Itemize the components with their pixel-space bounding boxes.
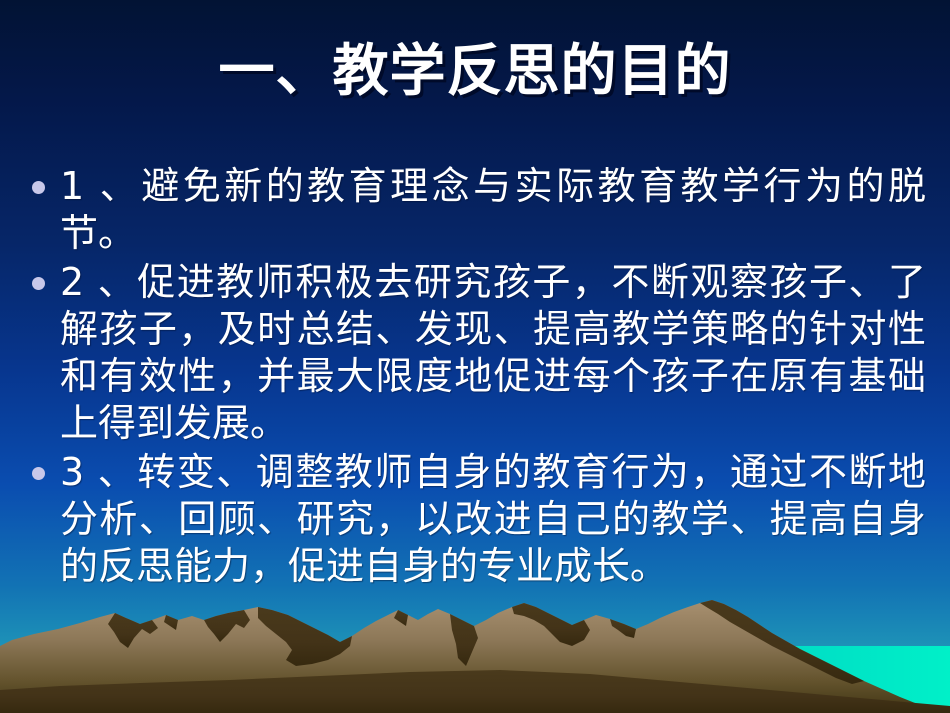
list-item-text: 3 、转变、调整教师自身的教育行为，通过不断地分析、回顾、研究，以改进自己的教学… (60, 449, 926, 590)
list-item: 3 、转变、调整教师自身的教育行为，通过不断地分析、回顾、研究，以改进自己的教学… (26, 449, 926, 590)
bullet-point-icon (32, 277, 45, 290)
page-title: 一、教学反思的目的 (219, 44, 732, 100)
mountain-illustration (0, 598, 950, 713)
list-item: 2 、促进教师积极去研究孩子，不断观察孩子、了解孩子，及时总结、发现、提高教学策… (26, 259, 926, 447)
slide-body-content: 1 、避免新的教育理念与实际教育教学行为的脱节。 2 、促进教师积极去研究孩子，… (26, 163, 926, 592)
mountain-scenery-graphic (0, 598, 950, 713)
list-item: 1 、避免新的教育理念与实际教育教学行为的脱节。 (26, 163, 926, 257)
slide-title-container: 一、教学反思的目的 (0, 44, 950, 100)
bullet-point-icon (32, 181, 45, 194)
bullet-point-icon (32, 467, 45, 480)
list-item-text: 1 、避免新的教育理念与实际教育教学行为的脱节。 (60, 163, 926, 257)
presentation-slide: 一、教学反思的目的 1 、避免新的教育理念与实际教育教学行为的脱节。 2 、促进… (0, 0, 950, 713)
list-item-text: 2 、促进教师积极去研究孩子，不断观察孩子、了解孩子，及时总结、发现、提高教学策… (60, 259, 926, 447)
